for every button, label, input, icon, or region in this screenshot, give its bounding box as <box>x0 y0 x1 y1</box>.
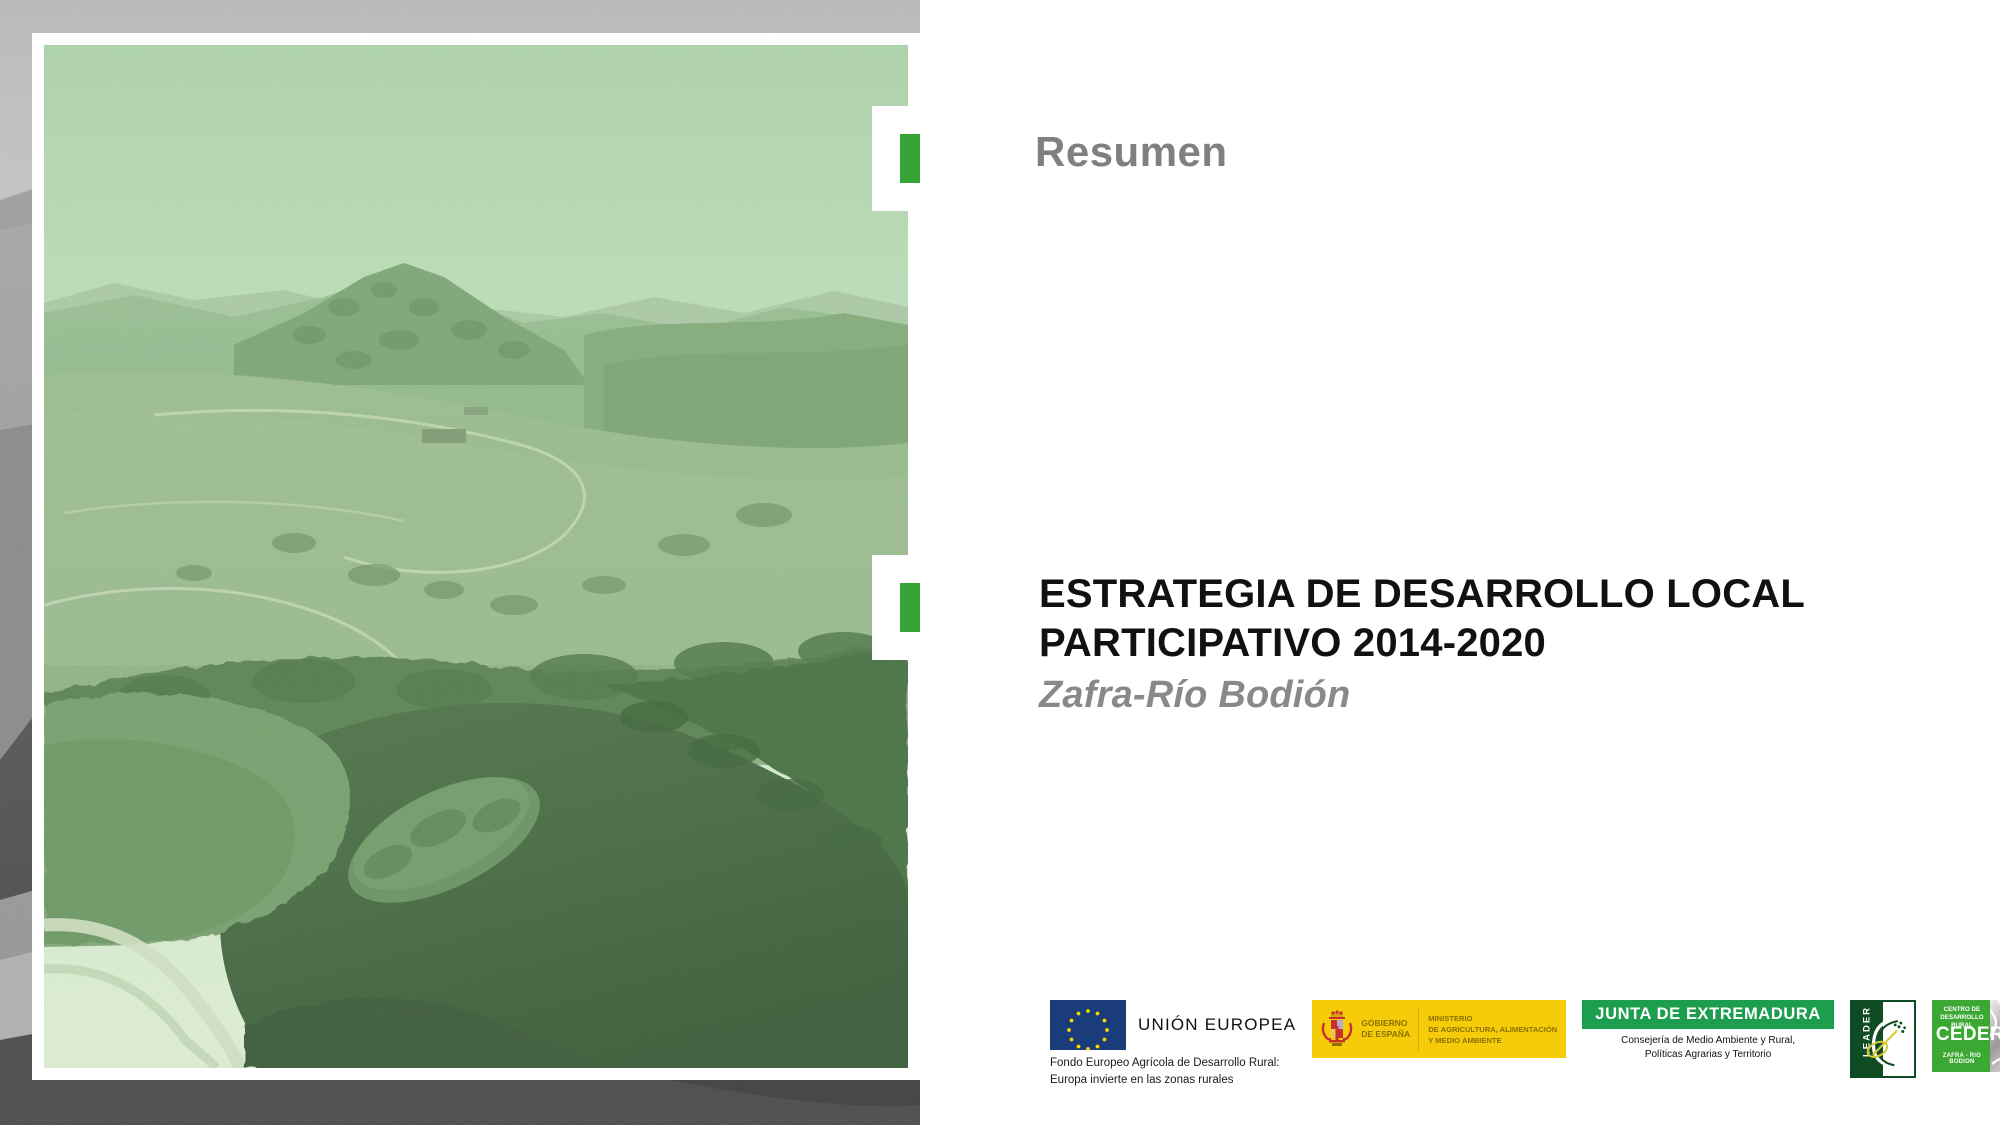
junta-caption-line-1: Consejería de Medio Ambiente y Rural, <box>1621 1034 1795 1048</box>
ministry-line-3: Y MEDIO AMBIENTE <box>1428 1035 1557 1046</box>
section-kicker: Resumen <box>1035 128 1228 176</box>
junta-name-bar: JUNTA DE EXTREMADURA <box>1582 1000 1834 1029</box>
ministry-line-2: DE AGRICULTURA, ALIMENTACIÓN <box>1428 1024 1557 1035</box>
junta-logo-caption: Consejería de Medio Ambiente y Rural, Po… <box>1621 1034 1795 1062</box>
ministry-line-1: MINISTERIO <box>1428 1013 1557 1024</box>
spain-ministry-text: MINISTERIO DE AGRICULTURA, ALIMENTACIÓN … <box>1419 1000 1566 1058</box>
eu-logo-name: UNIÓN EUROPEA <box>1138 1015 1296 1035</box>
green-accent-square-top <box>872 106 920 211</box>
ceder-bottom-text: ZAFRA - RIO BODION <box>1935 1053 1989 1065</box>
logo-european-union: UNIÓN EUROPEA Fondo Europeo Agrícola de … <box>1050 1000 1296 1088</box>
green-accent-square-bottom <box>872 555 920 660</box>
eu-stars-icon <box>1050 1000 1126 1050</box>
page-title-line-1: ESTRATEGIA DE DESARROLLO LOCAL <box>1039 570 1939 619</box>
spain-gov-block: GOBIERNO DE ESPAÑA <box>1312 1000 1418 1058</box>
eu-caption-line-2: Europa invierte en las zonas rurales <box>1050 1072 1296 1089</box>
funding-logo-bar: UNIÓN EUROPEA Fondo Europeo Agrícola de … <box>1050 1000 1970 1085</box>
logo-leader: LEADER <box>1850 1000 1916 1078</box>
logo-gobierno-de-espana: GOBIERNO DE ESPAÑA MINISTERIO DE AGRICUL… <box>1312 1000 1566 1058</box>
cover-image-block <box>0 0 920 1125</box>
page-title-line-2: PARTICIPATIVO 2014-2020 <box>1039 619 1939 668</box>
green-square-fill <box>900 134 920 183</box>
logo-ceder: CENTRO DE DESARROLLO RURAL CEDER ZAFRA -… <box>1932 1000 2000 1072</box>
eu-logo-caption: Fondo Europeo Agrícola de Desarrollo Rur… <box>1050 1055 1296 1088</box>
landscape-scene-green <box>44 45 908 1068</box>
leader-leaf-icon <box>1852 1002 1914 1076</box>
presentation-slide: Resumen ESTRATEGIA DE DESARROLLO LOCAL P… <box>0 0 2000 1125</box>
page-subtitle: Zafra-Río Bodión <box>1039 674 1939 717</box>
eu-logo-row: UNIÓN EUROPEA <box>1050 1000 1296 1050</box>
eu-caption-line-1: Fondo Europeo Agrícola de Desarrollo Rur… <box>1050 1055 1296 1072</box>
ceder-logo-name: CEDER <box>1936 1024 1988 1046</box>
spain-coat-of-arms-icon <box>1320 1009 1354 1049</box>
junta-logo-name: JUNTA DE EXTREMADURA <box>1595 1005 1821 1023</box>
spain-gov-line-1: GOBIERNO <box>1361 1018 1410 1029</box>
logo-junta-de-extremadura: JUNTA DE EXTREMADURA Consejería de Medio… <box>1582 1000 1834 1062</box>
ceder-top-line-1: CENTRO DE <box>1938 1006 1986 1014</box>
eu-flag-icon <box>1050 1000 1126 1050</box>
landscape-photo-tinted <box>44 45 908 1068</box>
title-block: ESTRATEGIA DE DESARROLLO LOCAL PARTICIPA… <box>1039 570 1939 717</box>
junta-caption-line-2: Políticas Agrarias y Territorio <box>1621 1048 1795 1062</box>
green-square-fill <box>900 583 920 632</box>
spain-gov-line-2: DE ESPAÑA <box>1361 1029 1410 1040</box>
spain-gov-text: GOBIERNO DE ESPAÑA <box>1361 1018 1410 1041</box>
